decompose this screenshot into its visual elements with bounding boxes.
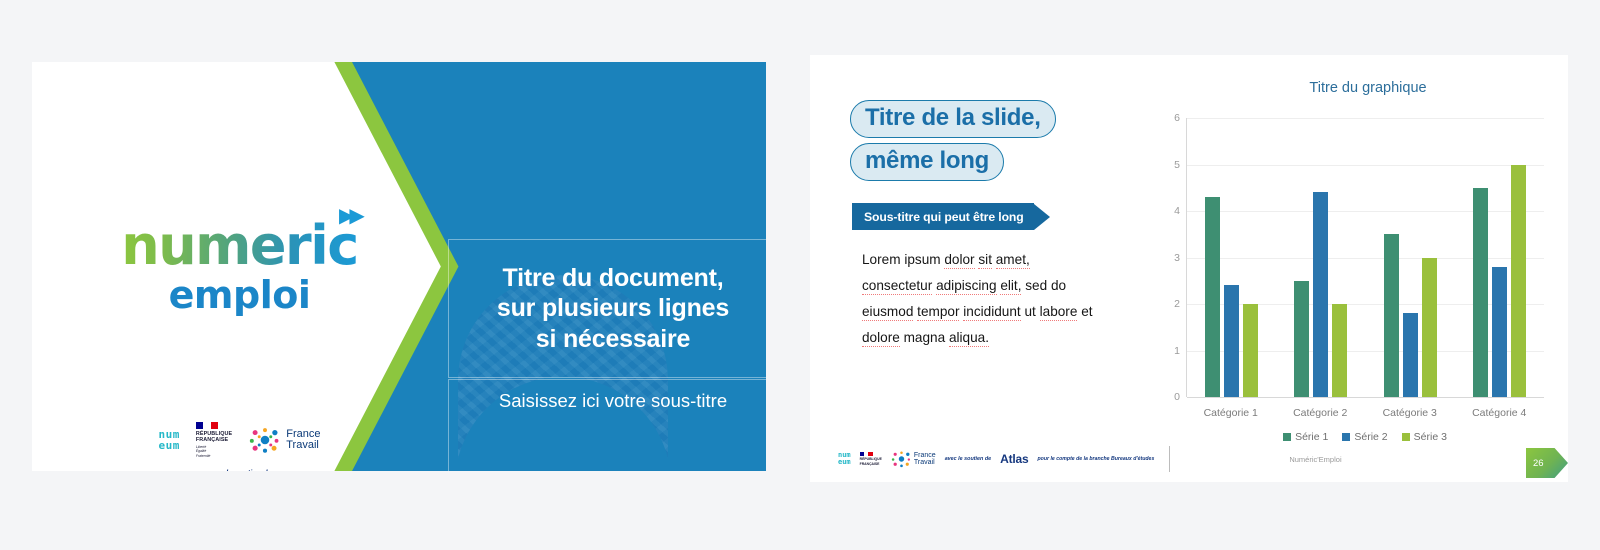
chart-bar[interactable] <box>1422 258 1437 398</box>
chart-bar-group <box>1473 118 1526 397</box>
chart-title: Titre du graphique <box>1186 80 1550 96</box>
chart-x-label: Catégorie 4 <box>1468 407 1530 419</box>
chart-y-tick: 2 <box>1174 298 1180 310</box>
footer-avec-le-soutien-label: avec le soutien de <box>945 456 991 462</box>
chart-y-tick: 4 <box>1174 205 1180 217</box>
chart-bar[interactable] <box>1224 285 1239 397</box>
chart-plot-area: 0123456 <box>1186 118 1544 397</box>
chart-legend-item[interactable]: Série 2 <box>1342 431 1387 443</box>
slide1-subtitle-placeholder[interactable]: Saisissez ici votre sous-titre <box>448 379 766 471</box>
body-word: sit <box>978 252 992 269</box>
body-word: sed <box>1025 278 1047 293</box>
body-line-4: dolore magna aliqua. <box>862 325 1102 351</box>
chart-legend-swatch <box>1402 433 1410 441</box>
france-travail-dots-icon <box>248 426 282 454</box>
body-word: labore <box>1040 304 1078 321</box>
body-word: magna <box>904 330 946 345</box>
body-word: Lorem <box>862 252 901 267</box>
slide2-title-line-1: Titre de la slide, <box>850 100 1056 138</box>
body-word: amet, <box>996 252 1030 269</box>
chart-y-tick: 3 <box>1174 252 1180 264</box>
body-word: ipsum <box>904 252 940 267</box>
slide1-title-placeholder[interactable]: Titre du document, sur plusieurs lignes … <box>448 239 766 378</box>
slide2-subtitle-banner[interactable]: Sous-titre qui peut être long <box>852 203 1050 230</box>
body-line-2: consectetur adipiscing elit, sed do <box>862 273 1102 299</box>
chart-bar-group <box>1384 118 1437 397</box>
footer-republique-francaise-logo: RÉPUBLIQUE FRANÇAISE <box>860 452 882 465</box>
bar-chart[interactable]: Titre du graphique 0123456 Catégorie 1Ca… <box>1160 80 1550 455</box>
slide2-title-placeholder[interactable]: Titre de la slide, même long <box>850 100 1180 186</box>
chart-bar[interactable] <box>1511 165 1526 398</box>
footer-brand-label: Numéric'Emploi <box>1289 455 1341 464</box>
body-word: incididunt <box>963 304 1020 321</box>
footer-france-travail-text: France Travail <box>914 452 936 467</box>
slide2-subtitle-text: Sous-titre qui peut être long <box>852 203 1034 230</box>
footer-french-flag-icon <box>860 452 873 456</box>
chart-bar[interactable] <box>1403 313 1418 397</box>
slide1-subtitle-text: Saisissez ici votre sous-titre <box>499 390 727 412</box>
avec-le-soutien-label: avec le soutien de <box>72 468 407 471</box>
footer-france-travail-logo: France Travail <box>891 450 936 468</box>
footer-divider <box>1169 446 1170 472</box>
chart-bar[interactable] <box>1205 197 1220 397</box>
chart-bar[interactable] <box>1384 234 1399 397</box>
chart-bar[interactable] <box>1332 304 1347 397</box>
slide1-title-line-2: sur plusieurs lignes <box>497 293 729 324</box>
footer-ft-line-2: Travail <box>914 459 936 466</box>
slide-2-content-slide[interactable]: Titre de la slide, même long Sous-titre … <box>810 55 1568 482</box>
chart-y-tick: 1 <box>1174 345 1180 357</box>
body-word: aliqua. <box>949 330 989 347</box>
slides-canvas: numeric ▶▶ emploi num eum RÉPUBLIQUE FRA… <box>0 0 1600 550</box>
numeric-emploi-logo: numeric ▶▶ emploi <box>72 220 407 317</box>
logo-emploi-text: emploi <box>72 273 407 317</box>
body-word: elit, <box>1000 278 1021 295</box>
chart-bar[interactable] <box>1243 304 1258 397</box>
body-word: eiusmod <box>862 304 913 321</box>
ft-line-2: Travail <box>286 440 320 452</box>
body-word: adipiscing <box>936 278 996 295</box>
chart-y-tick: 5 <box>1174 159 1180 171</box>
footer-numeum-line-2: eum <box>838 459 851 466</box>
chart-bar[interactable] <box>1473 188 1488 397</box>
rf-motto: LibertéÉgalitéFraternité <box>196 445 232 459</box>
french-flag-icon <box>196 422 218 429</box>
chart-legend-label: Série 3 <box>1414 431 1447 443</box>
body-word: consectetur <box>862 278 932 295</box>
slide2-footer: num eum RÉPUBLIQUE FRANÇAISE <box>838 446 1568 472</box>
slide-1-title-slide[interactable]: numeric ▶▶ emploi num eum RÉPUBLIQUE FRA… <box>32 62 766 471</box>
slide2-body-text[interactable]: Lorem ipsum dolor sit amet,consectetur a… <box>862 247 1102 351</box>
chart-legend-item[interactable]: Série 3 <box>1402 431 1447 443</box>
footer-numeum-logo: num eum <box>838 452 851 466</box>
body-line-3: eiusmod tempor incididunt ut labore et <box>862 299 1102 325</box>
body-word: et <box>1081 304 1092 319</box>
body-line-1: Lorem ipsum dolor sit amet, <box>862 247 1102 273</box>
chart-legend: Série 1Série 2Série 3 <box>1186 431 1544 443</box>
slide2-title-line-2: même long <box>850 143 1004 181</box>
chart-bar[interactable] <box>1294 281 1309 397</box>
chart-y-tick: 6 <box>1174 112 1180 124</box>
double-chevron-right-icon: ▶▶ <box>339 206 360 225</box>
chart-gridline: 0 <box>1187 397 1544 398</box>
chart-bars <box>1187 118 1544 397</box>
chart-legend-swatch <box>1283 433 1291 441</box>
footer-pour-le-compte-label: pour le compte de la branche Bureaux d'é… <box>1038 456 1155 462</box>
chart-bar[interactable] <box>1492 267 1507 397</box>
chart-x-label: Catégorie 1 <box>1200 407 1262 419</box>
chart-bar-group <box>1205 118 1258 397</box>
chart-legend-item[interactable]: Série 1 <box>1283 431 1328 443</box>
numeum-logo: num eum <box>159 429 180 451</box>
slide1-title-line-3: si nécessaire <box>497 324 729 355</box>
footer-ft-line-1: France <box>914 452 936 459</box>
chart-bar-group <box>1294 118 1347 397</box>
chart-legend-swatch <box>1342 433 1350 441</box>
body-word: ut <box>1024 304 1035 319</box>
body-word: do <box>1051 278 1066 293</box>
chart-x-label: Catégorie 2 <box>1289 407 1351 419</box>
chart-bar[interactable] <box>1313 192 1328 397</box>
slide1-title-line-1: Titre du document, <box>497 263 729 294</box>
republique-francaise-logo: RÉPUBLIQUE FRANÇAISE LibertéÉgalitéFrate… <box>196 422 232 459</box>
slide1-partner-logos: num eum RÉPUBLIQUE FRANÇAISE LibertéÉgal… <box>72 422 407 471</box>
rf-line-2: FRANÇAISE <box>196 437 232 443</box>
body-word: dolore <box>862 330 900 347</box>
banner-arrow-icon <box>1034 204 1050 230</box>
chart-x-label: Catégorie 3 <box>1379 407 1441 419</box>
chart-legend-label: Série 1 <box>1295 431 1328 443</box>
body-word: tempor <box>917 304 959 321</box>
chart-legend-label: Série 2 <box>1354 431 1387 443</box>
logo-numeric-text: numeric <box>121 214 357 277</box>
chart-y-tick: 0 <box>1174 391 1180 403</box>
france-travail-text: France Travail <box>286 429 320 452</box>
page-number: 26 <box>1533 458 1544 469</box>
chart-x-axis-labels: Catégorie 1Catégorie 2Catégorie 3Catégor… <box>1186 407 1544 419</box>
footer-atlas-logo: Atlas <box>1000 452 1028 466</box>
slide1-title-text: Titre du document, sur plusieurs lignes … <box>497 263 729 355</box>
france-travail-logo: France Travail <box>248 426 320 454</box>
numeum-line-2: eum <box>159 440 180 451</box>
footer-rf-line-1: RÉPUBLIQUE <box>860 457 882 461</box>
logo-numeric-wordmark: numeric ▶▶ <box>121 220 357 271</box>
footer-france-travail-dots-icon <box>891 450 912 468</box>
body-word: dolor <box>944 252 974 269</box>
footer-rf-line-2: FRANÇAISE <box>860 462 882 466</box>
